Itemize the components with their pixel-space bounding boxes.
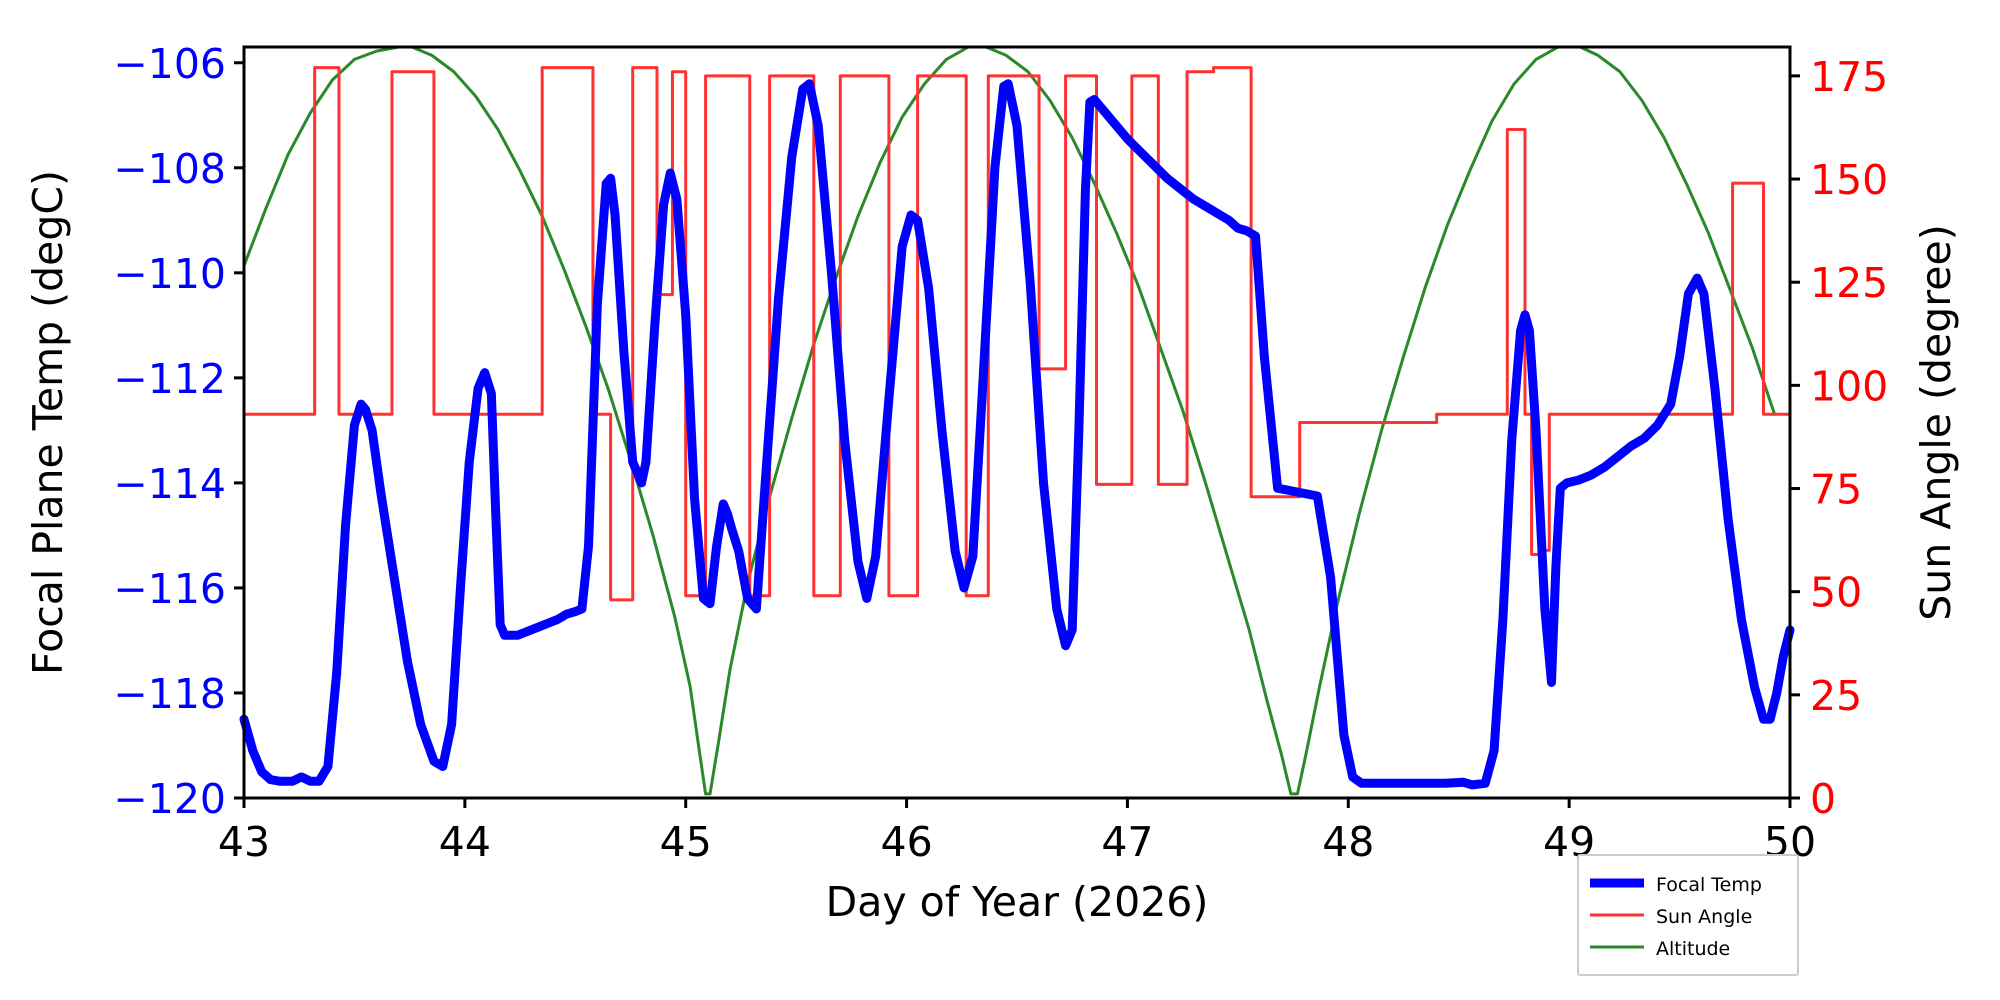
legend[interactable]: Focal TempSun AngleAltitude <box>1578 855 1798 975</box>
ytick-right-label-3: 75 <box>1810 466 1862 514</box>
ytick-left-label-0: −106 <box>113 40 226 88</box>
x-axis-label: Day of Year (2026) <box>826 878 1209 926</box>
ytick-right-label-5: 125 <box>1810 259 1888 307</box>
chart-figure: 4344454647484950−106−108−110−112−114−116… <box>0 0 2000 1000</box>
y-axis-label: Focal Plane Temp (degC) <box>24 170 72 675</box>
xtick-label-0: 43 <box>218 818 270 866</box>
xtick-label-5: 48 <box>1322 818 1374 866</box>
ytick-right-label-6: 150 <box>1810 156 1888 204</box>
ytick-right-label-1: 25 <box>1810 672 1862 720</box>
focal-temp-sun-angle-altitude-chart: 4344454647484950−106−108−110−112−114−116… <box>0 0 2000 1000</box>
ytick-left-label-4: −114 <box>113 460 226 508</box>
legend-label: Sun Angle <box>1656 906 1752 928</box>
ytick-right-label-0: 0 <box>1810 775 1836 823</box>
ytick-left-label-2: −110 <box>113 250 226 298</box>
ytick-left-label-5: −116 <box>113 565 226 613</box>
xtick-label-2: 45 <box>660 818 712 866</box>
y2-axis-label: Sun Angle (degree) <box>1912 224 1960 620</box>
ytick-left-label-3: −112 <box>113 355 226 403</box>
legend-label: Altitude <box>1656 938 1730 960</box>
legend-label: Focal Temp <box>1656 874 1762 896</box>
ytick-right-label-4: 100 <box>1810 362 1888 410</box>
xtick-label-4: 47 <box>1101 818 1153 866</box>
xtick-label-3: 46 <box>880 818 932 866</box>
ytick-left-label-6: −118 <box>113 670 226 718</box>
xtick-label-1: 44 <box>439 818 491 866</box>
ytick-left-label-7: −120 <box>113 775 226 823</box>
ytick-right-label-2: 50 <box>1810 569 1862 617</box>
ytick-right-label-7: 175 <box>1810 53 1888 101</box>
ytick-left-label-1: −108 <box>113 145 226 193</box>
